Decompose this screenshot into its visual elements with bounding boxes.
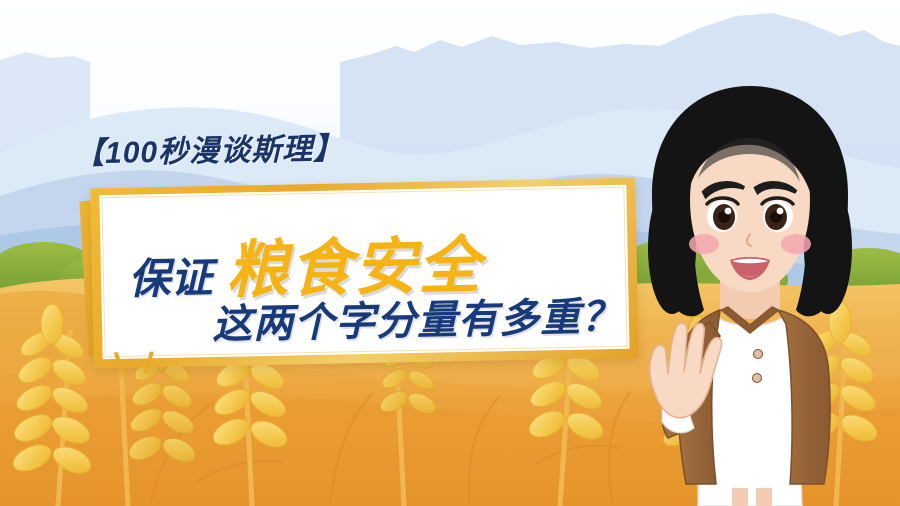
hair-left-side xyxy=(648,182,696,314)
hair-right-side xyxy=(804,182,852,314)
board-easel-foot xyxy=(112,352,156,375)
leg-right xyxy=(756,488,772,506)
poster-canvas: 【100秒漫谈斯理】 保证 粮食安全 这两个字分量有多重？ xyxy=(0,0,900,506)
headline-prefix: 保证 xyxy=(128,244,213,307)
headline-subtitle: 这两个字分量有多重？ xyxy=(211,284,622,350)
presenter-character xyxy=(600,78,900,506)
blush-left xyxy=(689,234,719,254)
leg-left xyxy=(732,488,748,506)
coat-button-top xyxy=(754,350,763,359)
coat-button-bottom xyxy=(753,374,762,383)
program-name-label: 【100秒漫谈斯理】 xyxy=(74,123,345,172)
blush-right xyxy=(781,234,811,254)
